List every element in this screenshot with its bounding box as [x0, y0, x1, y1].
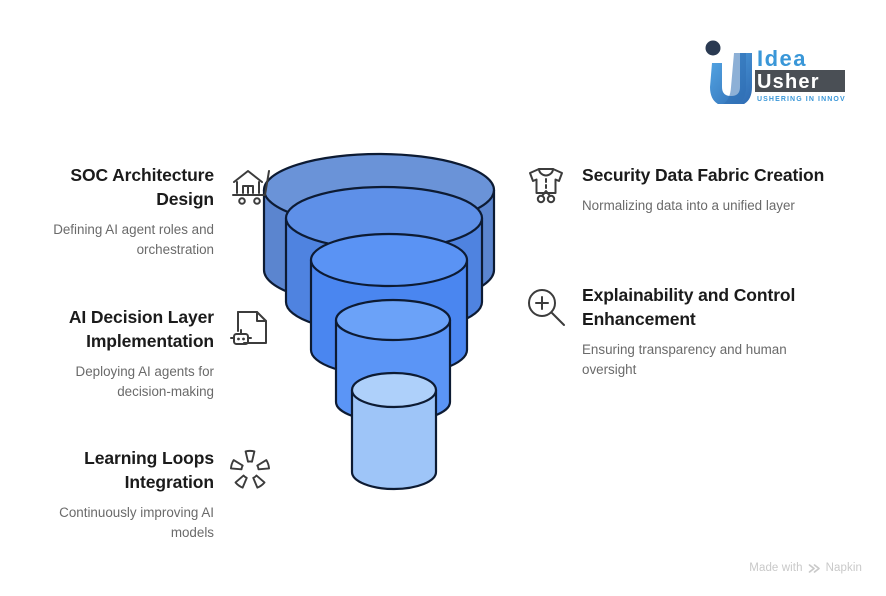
napkin-product-name: Napkin [826, 562, 862, 574]
circular-loop-icon [228, 448, 272, 492]
napkin-logo-svg [808, 563, 821, 574]
home-cart-icon [228, 165, 272, 209]
document-robot-icon [228, 307, 272, 351]
funnel-tier-5 [352, 373, 436, 489]
circular-loop-icon-svg [228, 448, 272, 492]
magnifier-plus-icon [524, 285, 568, 329]
made-with-napkin-credit[interactable]: Made with Napkin [749, 562, 862, 574]
item-text-block: SOC Architecture Design Defining AI agen… [20, 163, 214, 259]
brand-logo-svg: Idea Usher USHERING IN INNOVATION [703, 36, 845, 104]
item-title: Explainability and Control Enhancement [582, 283, 844, 331]
item-text-block: Security Data Fabric Creation Normalizin… [582, 163, 824, 216]
funnel-item-explainability-control[interactable]: Explainability and Control Enhancement E… [524, 283, 844, 379]
logo-dot-icon [706, 41, 721, 56]
item-text-block: Explainability and Control Enhancement E… [582, 283, 844, 379]
item-title: Security Data Fabric Creation [582, 163, 824, 187]
home-cart-icon-svg [228, 165, 272, 209]
item-text-block: Learning Loops Integration Continuously … [20, 446, 214, 542]
item-title: AI Decision Layer Implementation [20, 305, 214, 353]
brand-logo: Idea Usher USHERING IN INNOVATION [703, 36, 845, 104]
logo-word-usher: Usher [757, 71, 820, 93]
tshirt-scissors-icon [524, 165, 568, 209]
logo-tagline: USHERING IN INNOVATION [757, 96, 845, 103]
item-title: Learning Loops Integration [20, 446, 214, 494]
napkin-logo-icon [808, 563, 821, 574]
item-description: Ensuring transparency and human oversigh… [582, 340, 844, 379]
funnel-svg [262, 150, 522, 515]
item-description: Continuously improving AI models [20, 503, 214, 542]
item-title: SOC Architecture Design [20, 163, 214, 211]
item-text-block: AI Decision Layer Implementation Deployi… [20, 305, 214, 401]
logo-word-idea: Idea [757, 46, 807, 71]
funnel-item-soc-architecture-design[interactable]: SOC Architecture Design Defining AI agen… [20, 163, 272, 259]
item-description: Defining AI agent roles and orchestratio… [20, 220, 214, 259]
document-robot-icon-svg [228, 307, 272, 351]
tshirt-scissors-icon-svg [524, 165, 568, 209]
funnel-diagram [262, 150, 522, 515]
funnel-item-ai-decision-layer[interactable]: AI Decision Layer Implementation Deployi… [20, 305, 272, 401]
funnel-item-learning-loops[interactable]: Learning Loops Integration Continuously … [20, 446, 272, 542]
funnel-item-security-data-fabric[interactable]: Security Data Fabric Creation Normalizin… [524, 163, 844, 216]
item-description: Normalizing data into a unified layer [582, 196, 795, 215]
made-with-label: Made with [749, 562, 802, 574]
magnifier-plus-icon-svg [524, 285, 568, 329]
item-description: Deploying AI agents for decision-making [20, 362, 214, 401]
